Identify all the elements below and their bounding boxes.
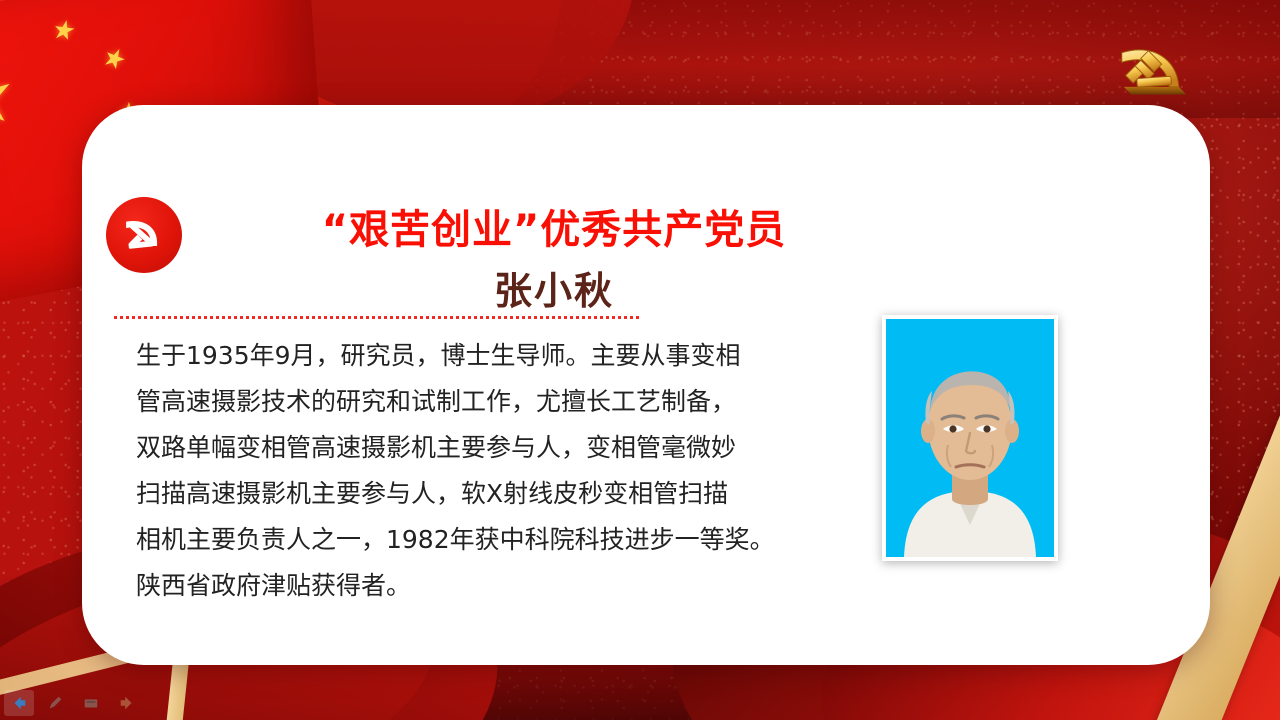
presentation-toolbar[interactable] — [4, 690, 142, 716]
biography-line: 陕西省政府津贴获得者。 — [136, 563, 836, 609]
flag-star-1: ★ — [50, 15, 79, 44]
arrow-left-icon — [10, 694, 28, 712]
biography-line: 双路单幅变相管高速摄影机主要参与人，变相管毫微妙 — [136, 425, 836, 471]
portrait-photo — [882, 315, 1058, 561]
slide-menu-button[interactable] — [76, 690, 106, 716]
pen-icon — [46, 694, 64, 712]
party-emblem-badge — [106, 197, 182, 273]
hammer-and-sickle-icon — [118, 207, 170, 264]
dotted-divider — [114, 316, 642, 319]
previous-slide-button[interactable] — [4, 690, 34, 716]
biography-line: 生于1935年9月，研究员，博士生导师。主要从事变相 — [136, 333, 836, 379]
biography-line: 相机主要负责人之一，1982年获中科院科技进步一等奖。 — [136, 517, 836, 563]
flag-star-2: ★ — [98, 42, 131, 75]
biography-line: 管高速摄影技术的研究和试制工作，尤擅长工艺制备， — [136, 379, 836, 425]
menu-icon — [82, 694, 100, 712]
page-title: “艰苦创业”优秀共产党员 — [194, 197, 914, 255]
biography-line: 扫描高速摄影机主要参与人，软X射线皮秒变相管扫描 — [136, 471, 836, 517]
next-slide-button[interactable] — [112, 690, 142, 716]
hammer-and-sickle-gold-icon — [1108, 28, 1204, 104]
content-card: “艰苦创业”优秀共产党员 张小秋 生于1935年9月，研究员，博士生导师。主要从… — [82, 105, 1210, 665]
biography-text: 生于1935年9月，研究员，博士生导师。主要从事变相 管高速摄影技术的研究和试制… — [136, 333, 836, 609]
pen-tool-button[interactable] — [40, 690, 70, 716]
arrow-right-icon — [118, 694, 136, 712]
flag-star-large: ★ — [0, 52, 23, 148]
person-name: 张小秋 — [194, 260, 914, 315]
presentation-slide: ★ ★ ★ ★ ★ — [0, 0, 1280, 720]
